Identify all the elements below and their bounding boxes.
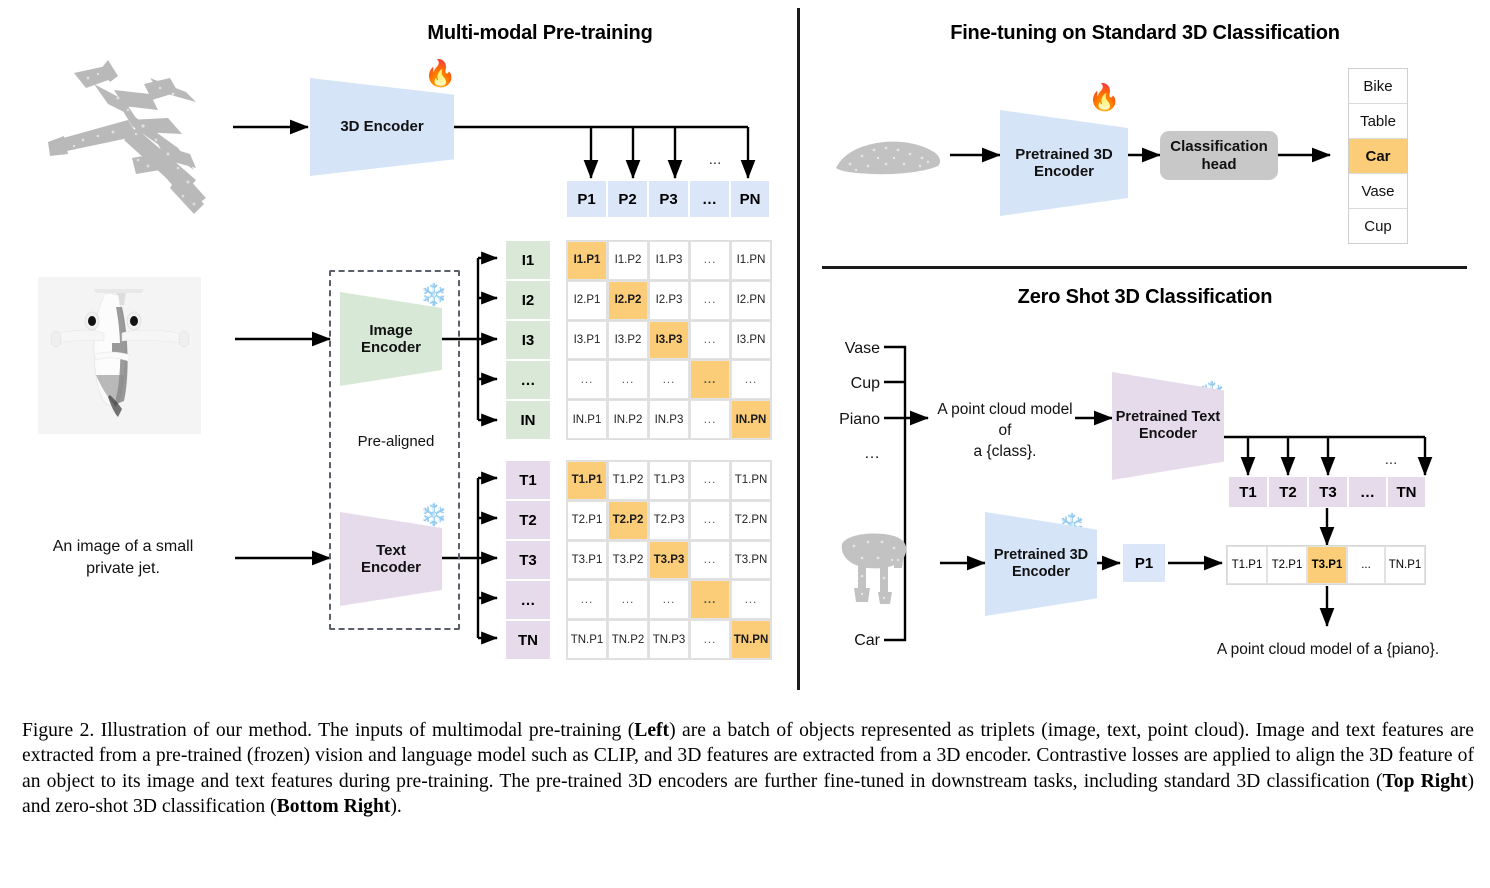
finetune-encoder-3d: Pretrained 3D Encoder (1000, 110, 1128, 216)
token-cell: PN (730, 180, 770, 218)
matrix-cell: ... (690, 281, 730, 320)
matrix-cell: I2.P1 (567, 281, 607, 320)
prealigned-label: Pre-aligned (341, 432, 451, 452)
text-point-similarity-matrix: T1.P1T1.P2T1.P3...T1.PNT2.P1T2.P2T2.P3..… (566, 460, 772, 660)
fire-icon: 🔥 (424, 60, 456, 86)
classification-head-label: Classification head (1170, 138, 1268, 174)
token-cell: P1 (566, 180, 607, 218)
caption-part: ). (390, 796, 401, 817)
score-cell: T1.P1 (1227, 546, 1267, 584)
zeroshot-class-label: Car (828, 630, 880, 652)
token-cell: IN (505, 400, 551, 440)
matrix-cell: I2.PN (731, 281, 771, 320)
matrix-cell: T3.P2 (608, 541, 648, 580)
zeroshot-text-encoder-label: Pretrained Text Encoder (1116, 409, 1221, 442)
matrix-cell: ... (567, 360, 607, 399)
zeroshot-score-strip: T1.P1 T2.P1 T3.P1 ... TN.P1 (1226, 545, 1426, 585)
matrix-cell: ... (690, 501, 730, 540)
pointcloud-piano (836, 528, 928, 610)
matrix-cell: TN.P2 (608, 620, 648, 659)
token-cell: P2 (607, 180, 648, 218)
token-cell: TN (1387, 476, 1426, 508)
matrix-cell: ... (690, 400, 730, 439)
panel-title-zeroshot: Zero Shot 3D Classification (890, 286, 1400, 309)
matrix-cell: ... (731, 360, 771, 399)
matrix-cell-highlighted: I2.P2 (608, 281, 648, 320)
token-cell: … (1348, 476, 1387, 508)
token-cell: P3 (648, 180, 689, 218)
matrix-cell: T1.PN (731, 461, 771, 500)
matrix-cell: T1.P3 (649, 461, 689, 500)
ellipsis-p-bus: ... (700, 150, 730, 170)
class-list-item[interactable]: Vase (1349, 174, 1407, 209)
text-encoder-label: Text Encoder (361, 542, 421, 577)
class-list-item[interactable]: Cup (1349, 209, 1407, 243)
pointcloud-airplane (28, 48, 233, 223)
snowflake-icon: ❄️ (420, 284, 447, 306)
figure-root: Multi-modal Pre-training (0, 0, 1490, 888)
matrix-cell: I1.P3 (649, 241, 689, 280)
matrix-cell-highlighted: T1.P1 (567, 461, 607, 500)
score-cell-selected: T3.P1 (1307, 546, 1347, 584)
matrix-cell: I2.P3 (649, 281, 689, 320)
zeroshot-result: A point cloud model of a {piano}. (1182, 640, 1474, 661)
matrix-cell: T2.P3 (649, 501, 689, 540)
zeroshot-prompt: A point cloud model of a {class}. (930, 400, 1080, 463)
matrix-cell: T3.PN (731, 541, 771, 580)
token-cell: T3 (1308, 476, 1348, 508)
score-cell: TN.P1 (1385, 546, 1425, 584)
matrix-cell: I3.PN (731, 321, 771, 360)
finetune-encoder-label: Pretrained 3D Encoder (1015, 146, 1113, 181)
matrix-cell: ... (690, 461, 730, 500)
zeroshot-point-token: P1 (1122, 543, 1166, 583)
caption-part: Figure 2. Illustration of our method. Th… (22, 720, 634, 741)
matrix-cell-highlighted: ... (690, 580, 730, 619)
token-cell: T2 (505, 500, 551, 540)
matrix-cell: T3.P1 (567, 541, 607, 580)
score-cell: ... (1347, 546, 1385, 584)
class-list-item[interactable]: Bike (1349, 69, 1407, 104)
zeroshot-class-label: Vase (828, 338, 880, 360)
point-token-strip: P1 P2 P3 … PN (566, 180, 770, 218)
matrix-cell: T2.P1 (567, 501, 607, 540)
matrix-cell-highlighted: T3.P3 (649, 541, 689, 580)
token-cell: … (505, 580, 551, 620)
zeroshot-encoder-3d: Pretrained 3D Encoder (985, 512, 1097, 616)
matrix-cell: TN.P1 (567, 620, 607, 659)
matrix-cell: I3.P2 (608, 321, 648, 360)
caption-bold: Left (634, 720, 669, 741)
matrix-cell: ... (649, 360, 689, 399)
token-cell: TN (505, 620, 551, 660)
matrix-cell: IN.P1 (567, 400, 607, 439)
matrix-cell: I1.P2 (608, 241, 648, 280)
text-encoder: Text Encoder (340, 512, 442, 606)
zeroshot-encoder-label: Pretrained 3D Encoder (994, 547, 1088, 580)
caption-bold: Top Right (1383, 771, 1468, 792)
image-encoder: Image Encoder (340, 292, 442, 386)
matrix-cell-highlighted: T2.P2 (608, 501, 648, 540)
token-cell: P1 (1122, 543, 1166, 583)
classification-head: Classification head (1160, 131, 1278, 180)
matrix-cell: T1.P2 (608, 461, 648, 500)
matrix-cell-highlighted: IN.PN (731, 400, 771, 439)
token-cell: T1 (1228, 476, 1268, 508)
fire-icon: 🔥 (1088, 84, 1120, 110)
matrix-cell-highlighted: ... (690, 360, 730, 399)
token-cell: … (689, 180, 730, 218)
matrix-cell: ... (608, 580, 648, 619)
token-cell: T3 (505, 540, 551, 580)
image-encoder-label: Image Encoder (361, 322, 421, 357)
matrix-cell: ... (567, 580, 607, 619)
matrix-cell: ... (690, 321, 730, 360)
matrix-cell: T2.PN (731, 501, 771, 540)
class-list-item-selected[interactable]: Car (1349, 139, 1407, 174)
matrix-cell: I1.PN (731, 241, 771, 280)
matrix-cell: ... (690, 541, 730, 580)
matrix-cell: IN.P3 (649, 400, 689, 439)
zeroshot-prompt-text: A point cloud model of a {class}. (937, 401, 1072, 460)
input-text-line: An image of a small private jet. (53, 538, 194, 577)
ellipsis-t-bus: ... (1376, 450, 1406, 470)
image-token-column: I1 I2 I3 … IN (505, 240, 551, 440)
encoder-3d-label: 3D Encoder (340, 118, 423, 135)
matrix-cell: ... (690, 241, 730, 280)
matrix-cell-highlighted: I1.P1 (567, 241, 607, 280)
token-cell: I1 (505, 240, 551, 280)
token-cell: T1 (505, 460, 551, 500)
snowflake-icon: ❄️ (420, 504, 447, 526)
zeroshot-text-token-strip: T1 T2 T3 … TN (1228, 476, 1426, 508)
panel-title-pretraining: Multi-modal Pre-training (290, 22, 790, 45)
zeroshot-class-label: Piano (820, 409, 880, 431)
caption-bold: Bottom Right (277, 796, 391, 817)
text-token-column: T1 T2 T3 … TN (505, 460, 551, 660)
class-list: Bike Table Car Vase Cup (1348, 68, 1408, 244)
input-image-jet (38, 277, 201, 434)
encoder-3d: 3D Encoder (310, 78, 454, 176)
image-point-similarity-matrix: I1.P1I1.P2I1.P3...I1.PNI2.P1I2.P2I2.P3..… (566, 240, 772, 440)
token-cell: … (505, 360, 551, 400)
zeroshot-class-label: Cup (828, 373, 880, 395)
zeroshot-text-encoder: Pretrained Text Encoder (1112, 372, 1224, 480)
matrix-cell: ... (690, 620, 730, 659)
input-text-caption: An image of a small private jet. (28, 536, 218, 579)
pointcloud-car (828, 130, 944, 182)
matrix-cell: TN.P3 (649, 620, 689, 659)
token-cell: I3 (505, 320, 551, 360)
class-list-item[interactable]: Table (1349, 104, 1407, 139)
figure-caption: Figure 2. Illustration of our method. Th… (22, 718, 1474, 820)
score-cell: T2.P1 (1267, 546, 1307, 584)
matrix-cell: I3.P1 (567, 321, 607, 360)
horizontal-divider (822, 266, 1467, 269)
token-cell: I2 (505, 280, 551, 320)
matrix-cell: ... (608, 360, 648, 399)
token-cell: T2 (1268, 476, 1308, 508)
matrix-cell: IN.P2 (608, 400, 648, 439)
matrix-cell: ... (731, 580, 771, 619)
zeroshot-class-label: … (828, 443, 880, 465)
matrix-cell: ... (649, 580, 689, 619)
panel-title-finetuning: Fine-tuning on Standard 3D Classificatio… (860, 22, 1430, 45)
vertical-divider (797, 8, 800, 690)
matrix-cell-highlighted: TN.PN (731, 620, 771, 659)
matrix-cell-highlighted: I3.P3 (649, 321, 689, 360)
